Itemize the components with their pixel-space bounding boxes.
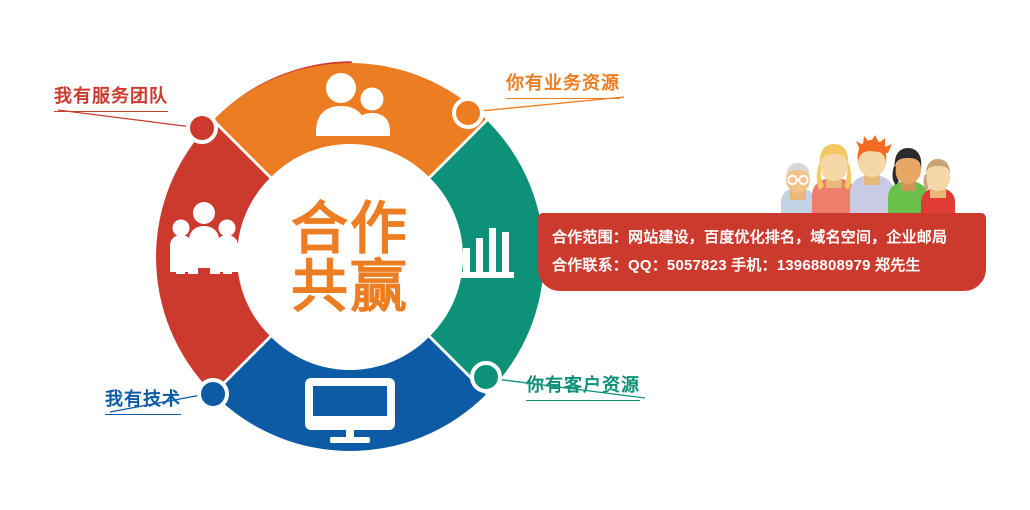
info-banner-line-2: 合作联系：QQ：5057823 手机：13968808979 郑先生 [552, 252, 970, 280]
infographic-canvas: 合作 共赢 我有服务团队 你有业务资源 我有技术 你有客户资源 [0, 0, 1030, 510]
person-3-figure [850, 135, 894, 225]
info-banner-line-1: 合作范围：网站建设，百度优化排名，域名空间，企业邮局 [552, 224, 970, 252]
info-banner: 合作范围：网站建设，百度优化排名，域名空间，企业邮局 合作联系：QQ：50578… [538, 213, 986, 291]
